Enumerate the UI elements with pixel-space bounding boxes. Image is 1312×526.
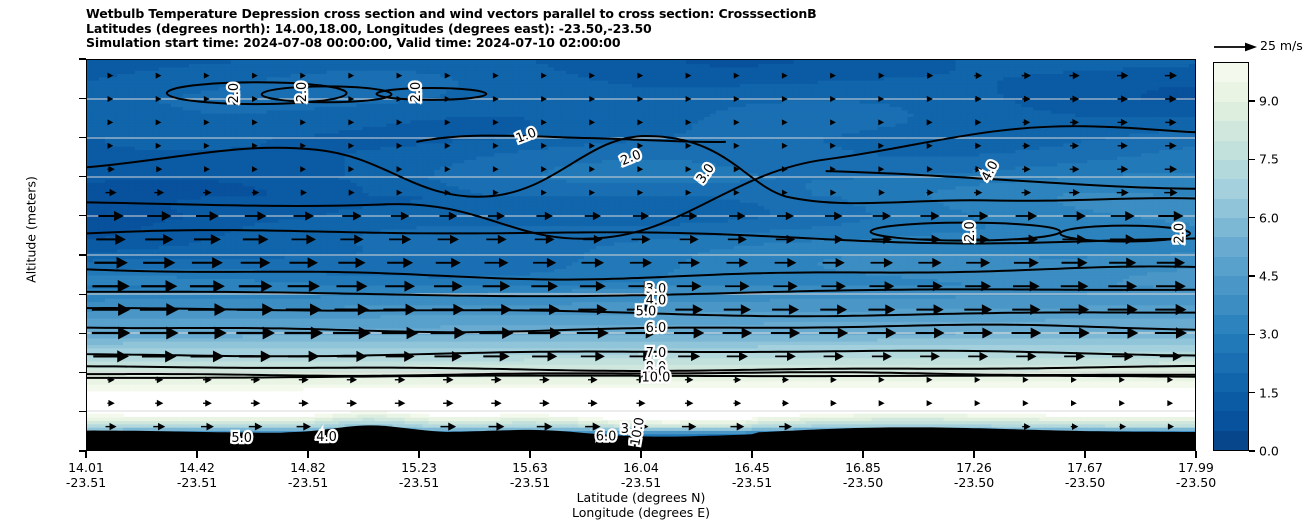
colorbar-gradient <box>1214 63 1248 450</box>
colorbar-band <box>1214 102 1248 121</box>
x-tick-mark <box>751 451 752 458</box>
x-tick-mark <box>1084 451 1085 458</box>
x-tick-label-longitude: -23.50 <box>1176 475 1216 490</box>
y-tick-mark <box>79 176 86 177</box>
colorbar-band <box>1214 373 1248 392</box>
colorbar-band <box>1214 160 1248 179</box>
x-tick-label-longitude: -23.51 <box>732 475 772 490</box>
colorbar-tick-label: 3.0 <box>1259 327 1279 342</box>
colorbar-band <box>1214 179 1248 198</box>
x-tick-label-longitude: -23.51 <box>288 475 328 490</box>
x-tick-mark <box>640 451 641 458</box>
colorbar-band <box>1214 334 1248 353</box>
colorbar-band <box>1214 431 1248 450</box>
x-tick-label-latitude: 14.82 <box>290 460 326 475</box>
colorbar-tick-label: 9.0 <box>1259 93 1279 108</box>
colorbar-tick-mark <box>1249 217 1255 218</box>
colorbar-band <box>1214 392 1248 411</box>
x-axis-title-latitude: Latitude (degrees N) <box>86 490 1196 505</box>
x-tick-label-longitude: -23.50 <box>843 475 883 490</box>
x-tick-mark <box>973 451 974 458</box>
x-tick-label-latitude: 17.67 <box>1067 460 1103 475</box>
x-tick-mark <box>529 451 530 458</box>
x-axis-title-longitude: Longitude (degrees E) <box>86 505 1196 520</box>
colorbar-tick-mark <box>1249 392 1255 393</box>
x-tick-mark <box>862 451 863 458</box>
colorbar-band <box>1214 141 1248 160</box>
y-tick-mark <box>79 372 86 373</box>
y-tick-mark <box>79 411 86 412</box>
quiver-key-label: 25 m/s <box>1260 38 1303 53</box>
colorbar-tick-label: 4.5 <box>1259 268 1279 283</box>
colorbar-tick-mark <box>1249 100 1255 101</box>
x-tick-label-latitude: 16.45 <box>734 460 770 475</box>
y-axis-title: Altitude (meters) <box>24 150 39 310</box>
x-tick-label-longitude: -23.51 <box>177 475 217 490</box>
y-tick-mark <box>79 294 86 295</box>
y-tick-mark <box>79 254 86 255</box>
quiver-key: 25 m/s <box>1213 38 1312 56</box>
colorbar-band <box>1214 276 1248 295</box>
colorbar-band <box>1214 199 1248 218</box>
x-tick-label-longitude: -23.51 <box>66 475 106 490</box>
x-tick-label-longitude: -23.50 <box>1065 475 1105 490</box>
y-tick-mark <box>79 98 86 99</box>
colorbar-tick-mark <box>1249 450 1255 451</box>
colorbar-band <box>1214 121 1248 140</box>
x-tick-label-latitude: 16.04 <box>623 460 659 475</box>
x-tick-mark <box>1195 451 1196 458</box>
x-tick-mark <box>85 451 86 458</box>
colorbar-tick-label: 7.5 <box>1259 152 1279 167</box>
colorbar-band <box>1214 63 1248 82</box>
x-tick-label-latitude: 15.23 <box>401 460 437 475</box>
y-tick-mark <box>79 137 86 138</box>
x-tick-label-longitude: -23.50 <box>954 475 994 490</box>
chart-figure: Wetbulb Temperature Depression cross sec… <box>0 0 1312 526</box>
y-tick-mark <box>79 58 86 59</box>
x-tick-mark <box>196 451 197 458</box>
colorbar-tick-mark <box>1249 159 1255 160</box>
colorbar-tick-label: 6.0 <box>1259 210 1279 225</box>
x-tick-label-latitude: 17.99 <box>1178 460 1214 475</box>
colorbar <box>1213 62 1249 451</box>
colorbar-tick-mark <box>1249 275 1255 276</box>
colorbar-tick-label: 0.0 <box>1259 444 1279 459</box>
y-tick-mark <box>79 333 86 334</box>
x-tick-label-longitude: -23.51 <box>399 475 439 490</box>
colorbar-band <box>1214 237 1248 256</box>
x-tick-mark <box>418 451 419 458</box>
colorbar-band <box>1214 295 1248 314</box>
x-tick-mark <box>307 451 308 458</box>
colorbar-band <box>1214 257 1248 276</box>
x-tick-label-latitude: 15.63 <box>512 460 548 475</box>
x-tick-label-latitude: 14.01 <box>68 460 104 475</box>
y-tick-mark <box>79 215 86 216</box>
x-tick-label-longitude: -23.51 <box>510 475 550 490</box>
colorbar-band <box>1214 82 1248 101</box>
axis-labels-layer: 0.01000.02000.03000.04000.05000.06000.07… <box>0 0 1312 526</box>
x-tick-label-longitude: -23.51 <box>621 475 661 490</box>
colorbar-band <box>1214 218 1248 237</box>
quiver-key-arrow-icon <box>1213 40 1259 54</box>
colorbar-band <box>1214 315 1248 334</box>
colorbar-band <box>1214 411 1248 430</box>
x-tick-label-latitude: 17.26 <box>956 460 992 475</box>
x-tick-label-latitude: 14.42 <box>179 460 215 475</box>
colorbar-tick-label: 1.5 <box>1259 385 1279 400</box>
x-tick-label-latitude: 16.85 <box>845 460 881 475</box>
colorbar-band <box>1214 353 1248 372</box>
colorbar-tick-mark <box>1249 334 1255 335</box>
